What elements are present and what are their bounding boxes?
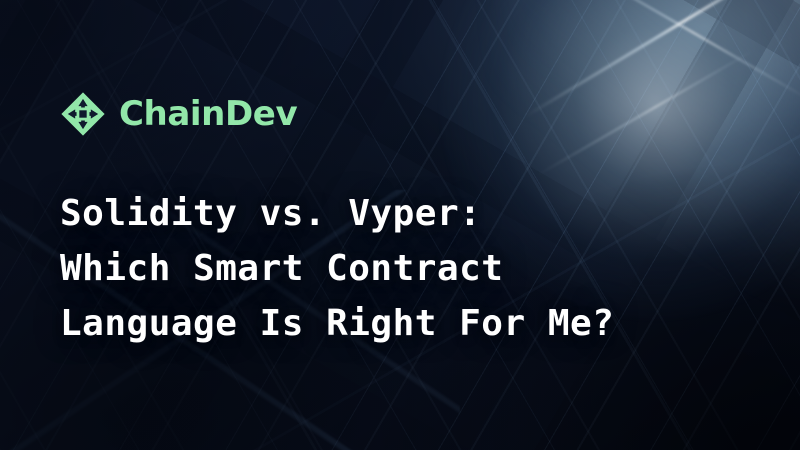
page-title-line-3: Language Is Right For Me? bbox=[60, 296, 760, 351]
page-title: Solidity vs. Vyper: Which Smart Contract… bbox=[60, 186, 760, 351]
page-title-line-2: Which Smart Contract bbox=[60, 241, 760, 296]
page-title-line-1: Solidity vs. Vyper: bbox=[60, 186, 760, 241]
banner-content: ChainDev Solidity vs. Vyper: Which Smart… bbox=[0, 0, 800, 450]
article-hero-banner: ChainDev Solidity vs. Vyper: Which Smart… bbox=[0, 0, 800, 450]
diamond-four-arrows-icon bbox=[60, 91, 106, 137]
brand-logo: ChainDev bbox=[60, 91, 297, 137]
brand-name: ChainDev bbox=[119, 97, 297, 131]
